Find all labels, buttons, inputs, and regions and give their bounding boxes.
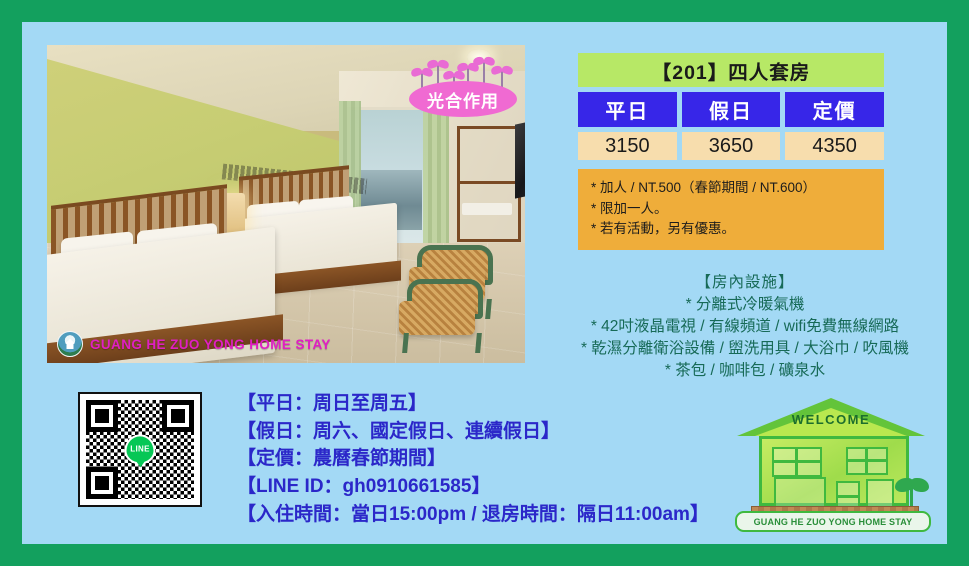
facility-item-1: * 分離式冷暖氣機 <box>527 294 963 316</box>
price-table: 平日 假日 定價 3150 3650 4350 <box>578 92 884 160</box>
price-note-1: * 加人 / NT.500（春節期間 / NT.600） <box>591 178 871 199</box>
facilities-block: 【房內設施】 * 分離式冷暖氣機 * 42吋液晶電視 / 有線頻道 / wifi… <box>527 272 963 382</box>
line-qr-code[interactable]: LINE <box>78 392 202 507</box>
booking-info-block: 【平日：周日至周五】 【假日：周六、國定假日、連續假日】 【定價：農曆春節期間】… <box>237 390 757 529</box>
facilities-heading: 【房內設施】 <box>527 272 963 294</box>
photo-chair-front <box>395 279 479 349</box>
house-window-2 <box>846 447 888 475</box>
photo-rattan-chairs <box>395 245 525 357</box>
price-notes-box: * 加人 / NT.500（春節期間 / NT.600） * 限加一人。 * 若… <box>578 169 884 250</box>
info-line-weekday: 【平日：周日至周五】 <box>237 390 757 418</box>
house-window-1 <box>772 447 822 477</box>
price-header-listprice: 定價 <box>785 92 884 127</box>
house-caption-band: GUANG HE ZUO YONG HOME STAY <box>735 511 931 532</box>
qr-finder-bottom-left <box>86 467 118 499</box>
poster-inner-panel: 光合作用 GUANG HE ZUO YONG HOME STAY 【201】四人… <box>22 22 947 544</box>
price-header-row: 平日 假日 定價 <box>578 92 884 127</box>
homestay-badge-icon <box>57 331 83 357</box>
info-line-listprice: 【定價：農曆春節期間】 <box>237 445 757 473</box>
room-info-panel: 【201】四人套房 平日 假日 定價 3150 3650 4350 * 加人 /… <box>578 53 884 250</box>
info-line-checkin: 【入住時間：當日15:00pm / 退房時間：隔日11:00am】 <box>237 501 757 529</box>
room-photo: 光合作用 GUANG HE ZUO YONG HOME STAY <box>47 45 525 363</box>
facility-item-2: * 42吋液晶電視 / 有線頻道 / wifi免費無線網路 <box>527 316 963 338</box>
facility-item-4: * 茶包 / 咖啡包 / 礦泉水 <box>527 360 963 382</box>
price-header-weekend: 假日 <box>682 92 781 127</box>
info-line-weekend: 【假日：周六、國定假日、連續假日】 <box>237 418 757 446</box>
house-door <box>774 477 826 509</box>
price-value-weekend: 3650 <box>682 132 781 160</box>
house-caption-label: GUANG HE ZUO YONG HOME STAY <box>754 517 913 527</box>
poster-root: 光合作用 GUANG HE ZUO YONG HOME STAY 【201】四人… <box>0 0 969 566</box>
house-welcome-label: WELCOME <box>731 412 931 427</box>
room-title: 【201】四人套房 <box>578 53 884 87</box>
line-icon-label: LINE <box>130 444 149 453</box>
photo-watermark: GUANG HE ZUO YONG HOME STAY <box>57 331 331 357</box>
photosynthesis-label: 光合作用 <box>427 87 499 112</box>
facility-item-3: * 乾濕分離衛浴設備 / 盥洗用具 / 大浴巾 / 吹風機 <box>527 338 963 360</box>
house-body <box>759 436 909 506</box>
line-app-icon: LINE <box>125 434 156 464</box>
photo-luggage-rack <box>457 126 521 242</box>
price-header-weekday: 平日 <box>578 92 677 127</box>
info-line-lineid: 【LINE ID：gh0910661585】 <box>237 473 757 501</box>
price-value-weekday: 3150 <box>578 132 677 160</box>
house-sprout-icon <box>897 472 927 506</box>
photosynthesis-logo: 光合作用 <box>409 55 517 117</box>
photo-television <box>515 117 525 198</box>
photosynthesis-oval: 光合作用 <box>409 81 517 117</box>
price-note-3: * 若有活動，另有優惠。 <box>591 219 871 240</box>
qr-pattern: LINE <box>86 400 194 499</box>
sprout-leaf-right <box>911 478 929 492</box>
photo-chair-seat <box>399 301 475 335</box>
price-note-2: * 限加一人。 <box>591 199 871 220</box>
photo-watermark-label: GUANG HE ZUO YONG HOME STAY <box>90 337 331 352</box>
price-value-listprice: 4350 <box>785 132 884 160</box>
photo-chair-legs <box>402 333 482 353</box>
homestay-house-logo: WELCOME GUANG HE ZUO YONG HOME STAY <box>731 392 931 532</box>
price-value-row: 3150 3650 4350 <box>578 132 884 160</box>
qr-finder-top-right <box>162 400 194 432</box>
